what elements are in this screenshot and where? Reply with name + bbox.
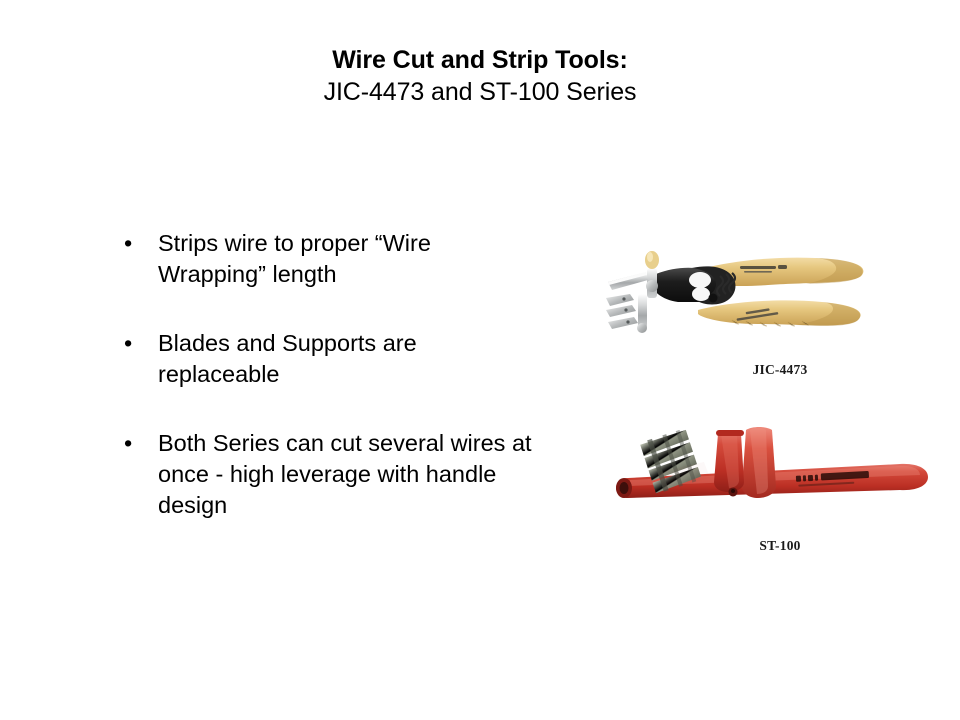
jaw-opening-lower bbox=[692, 287, 710, 301]
st-100-stripper-image bbox=[600, 412, 960, 532]
product-st-100: ST-100 bbox=[600, 412, 960, 562]
bullet-text-2: Blades and Supports are replaceable bbox=[158, 328, 540, 390]
product-jic-4473: JIC-4473 bbox=[600, 240, 960, 390]
bullet-marker-icon: • bbox=[124, 228, 132, 259]
support-screw bbox=[637, 323, 647, 333]
replaceable-supports bbox=[606, 294, 638, 329]
handle-end-hole bbox=[620, 482, 629, 494]
slide-canvas: Wire Cut and Strip Tools: JIC-4473 and S… bbox=[0, 0, 960, 720]
title-line-1: Wire Cut and Strip Tools: bbox=[0, 44, 960, 76]
bullet-marker-icon: • bbox=[124, 428, 132, 459]
bullet-item-2: • Blades and Supports are replaceable bbox=[120, 328, 540, 390]
bullet-item-1: • Strips wire to proper “Wire Wrapping” … bbox=[120, 228, 540, 290]
upright-top-cap bbox=[716, 430, 744, 436]
product-caption-st-100: ST-100 bbox=[600, 538, 960, 554]
bullet-list: • Strips wire to proper “Wire Wrapping” … bbox=[120, 228, 540, 521]
pivot-screw bbox=[646, 280, 658, 292]
product-caption-jic-4473: JIC-4473 bbox=[600, 362, 960, 378]
product-image-area: JIC-4473 bbox=[600, 240, 960, 570]
yellow-cap-highlight bbox=[647, 252, 653, 262]
pivot-rivet-hole bbox=[731, 489, 735, 493]
bullet-text-3: Both Series can cut several wires at onc… bbox=[158, 428, 540, 521]
bullet-item-3: • Both Series can cut several wires at o… bbox=[120, 428, 540, 521]
slide-title: Wire Cut and Strip Tools: JIC-4473 and S… bbox=[0, 44, 960, 108]
bullet-marker-icon: • bbox=[124, 328, 132, 359]
bullet-text-1: Strips wire to proper “Wire Wrapping” le… bbox=[158, 228, 540, 290]
wire-stripper-plier-image bbox=[600, 240, 960, 360]
jaw-pin bbox=[709, 294, 718, 303]
title-line-2: JIC-4473 and ST-100 Series bbox=[0, 76, 960, 108]
jaw-opening-upper bbox=[689, 272, 711, 288]
